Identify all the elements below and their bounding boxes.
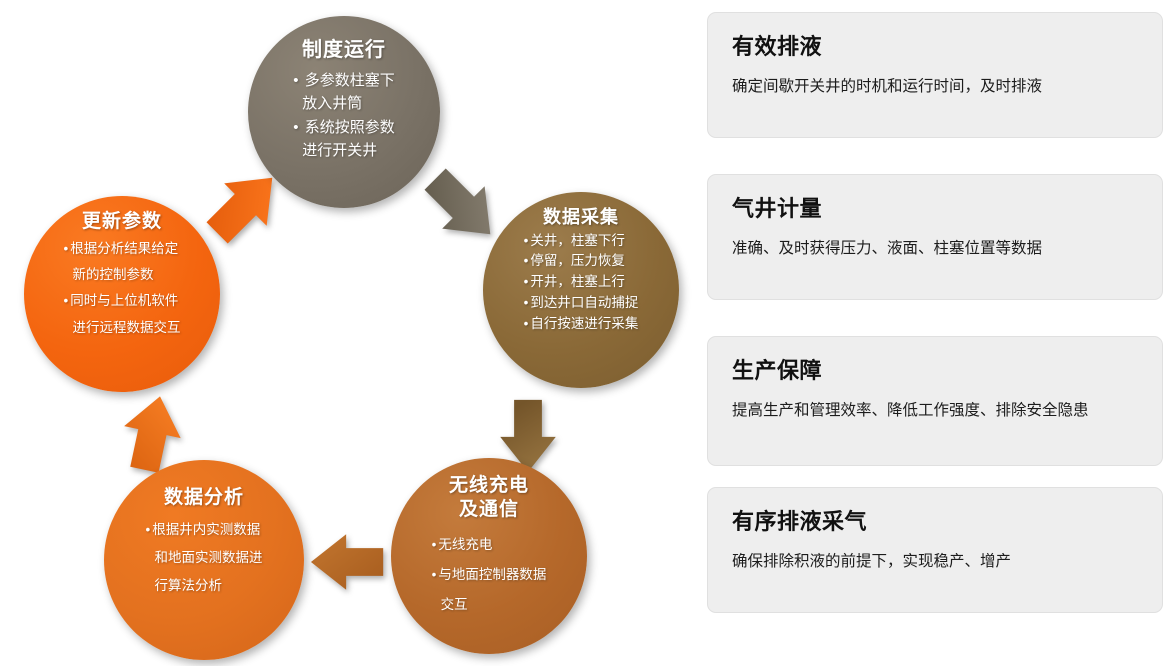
benefit-card-effective-drainage[interactable]: 有效排液 确定间歇开关井的时机和运行时间，及时排液 — [707, 12, 1163, 138]
node-body: •关井，柱塞下行 •停留，压力恢复 •开井，柱塞上行 •到达井口自动捕捉 •自行… — [524, 231, 639, 336]
node-line: •根据井内实测数据 — [146, 516, 263, 544]
card-title: 有效排液 — [732, 29, 1138, 61]
node-line: 进行远程数据交互 — [64, 315, 181, 341]
node-line: 交互 — [432, 590, 547, 620]
node-line: 新的控制参数 — [64, 262, 181, 288]
benefits-panel: 有效排液 确定间歇开关井的时机和运行时间，及时排液 气井计量 准确、及时获得压力… — [703, 0, 1171, 666]
node-body: •根据井内实测数据 和地面实测数据进 行算法分析 — [146, 516, 263, 601]
card-body: 准确、及时获得压力、液面、柱塞位置等数据 — [732, 235, 1138, 264]
node-line: • 系统按照参数 — [293, 116, 394, 139]
card-body: 确保排除积液的前提下，实现稳产、增产 — [732, 548, 1138, 577]
node-body: •根据分析结果给定 新的控制参数 •同时与上位机软件 进行远程数据交互 — [64, 236, 181, 341]
cycle-node-system-operation[interactable]: 制度运行 • 多参数柱塞下 放入井筒 • 系统按照参数 进行开关井 — [248, 16, 440, 208]
node-line: •开井，柱塞上行 — [524, 272, 639, 293]
node-body: • 多参数柱塞下 放入井筒 • 系统按照参数 进行开关井 — [293, 69, 394, 162]
node-title: 制度运行 — [248, 16, 440, 63]
node-line: • 多参数柱塞下 — [293, 69, 394, 92]
node-line: •无线充电 — [432, 530, 547, 560]
card-body: 提高生产和管理效率、降低工作强度、排除安全隐患 — [732, 397, 1138, 426]
node-line: 进行开关井 — [293, 139, 394, 162]
benefit-card-gas-well-metering[interactable]: 气井计量 准确、及时获得压力、液面、柱塞位置等数据 — [707, 174, 1163, 300]
cycle-node-data-acquisition[interactable]: 数据采集 •关井，柱塞下行 •停留，压力恢复 •开井，柱塞上行 •到达井口自动捕… — [483, 192, 679, 388]
cycle-node-wireless-charging[interactable]: 无线充电 及通信 •无线充电 •与地面控制器数据 交互 — [391, 458, 587, 654]
node-line: •停留，压力恢复 — [524, 251, 639, 272]
card-body: 确定间歇开关井的时机和运行时间，及时排液 — [732, 73, 1138, 102]
node-line: •自行按速进行采集 — [524, 314, 639, 335]
node-line: •根据分析结果给定 — [64, 236, 181, 262]
arrow-wireless-to-analysis-icon — [298, 512, 398, 612]
node-body: •无线充电 •与地面控制器数据 交互 — [432, 530, 547, 621]
cycle-node-update-parameters[interactable]: 更新参数 •根据分析结果给定 新的控制参数 •同时与上位机软件 进行远程数据交互 — [24, 196, 220, 392]
node-title-line: 及通信 — [391, 498, 587, 522]
node-line: •与地面控制器数据 — [432, 560, 547, 590]
card-title: 生产保障 — [732, 353, 1138, 385]
benefit-card-production-assurance[interactable]: 生产保障 提高生产和管理效率、降低工作强度、排除安全隐患 — [707, 336, 1163, 466]
node-line: •到达井口自动捕捉 — [524, 293, 639, 314]
benefit-card-orderly-drainage-gas-production[interactable]: 有序排液采气 确保排除积液的前提下，实现稳产、增产 — [707, 487, 1163, 613]
cycle-diagram: 制度运行 • 多参数柱塞下 放入井筒 • 系统按照参数 进行开关井 数据采集 •… — [0, 0, 700, 666]
node-line: 行算法分析 — [146, 572, 263, 600]
node-line: 放入井筒 — [293, 92, 394, 115]
node-line: •同时与上位机软件 — [64, 288, 181, 314]
cycle-node-data-analysis[interactable]: 数据分析 •根据井内实测数据 和地面实测数据进 行算法分析 — [104, 460, 304, 660]
card-title: 有序排液采气 — [732, 504, 1138, 536]
card-title: 气井计量 — [732, 191, 1138, 223]
node-line: 和地面实测数据进 — [146, 544, 263, 572]
node-line: •关井，柱塞下行 — [524, 231, 639, 252]
